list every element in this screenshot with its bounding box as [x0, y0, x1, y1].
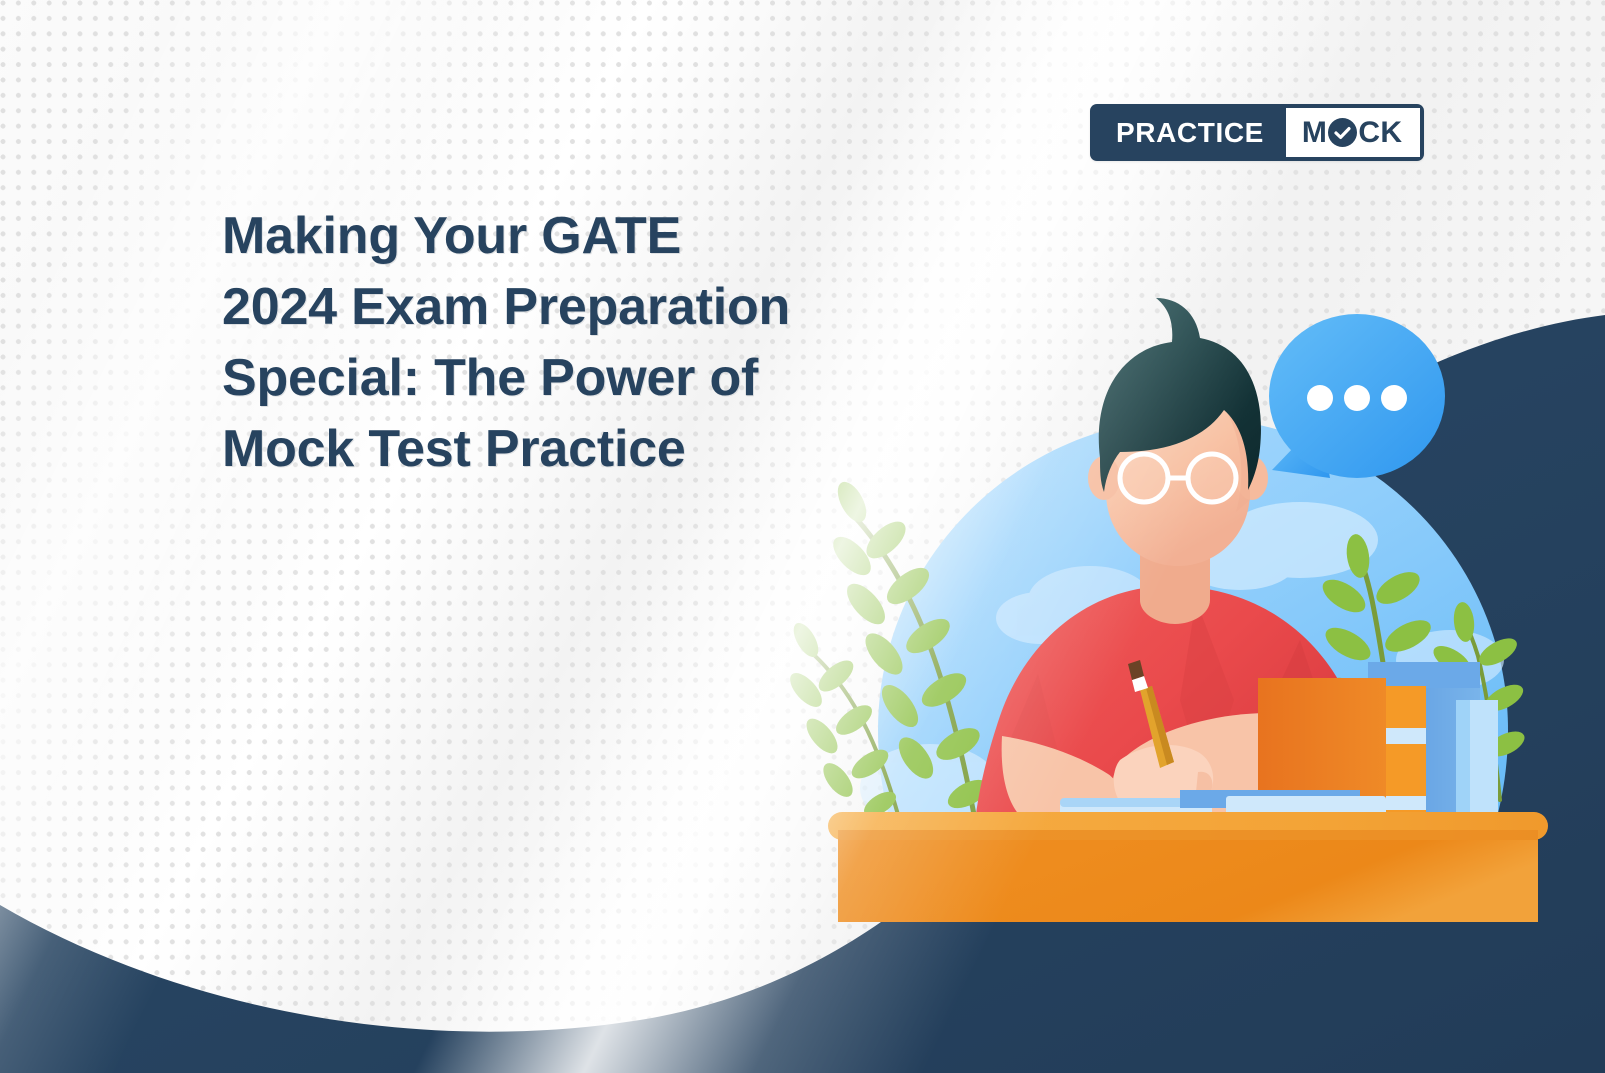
check-circle-icon	[1328, 118, 1357, 147]
logo-word-practice: PRACTICE	[1090, 104, 1286, 161]
banner-root: Making Your GATE 2024 Exam Preparation S…	[0, 0, 1605, 1073]
speech-bubble	[1269, 314, 1445, 478]
practicemock-logo[interactable]: PRACTICE MCK	[1090, 104, 1424, 161]
logo-word-mock: MCK	[1286, 108, 1421, 157]
page-title: Making Your GATE 2024 Exam Preparation S…	[222, 201, 1012, 485]
logo-mock-m: M	[1302, 116, 1327, 150]
logo-mock-ck: CK	[1358, 116, 1402, 150]
speech-bubble-dots	[1307, 385, 1407, 411]
desk	[828, 812, 1548, 922]
